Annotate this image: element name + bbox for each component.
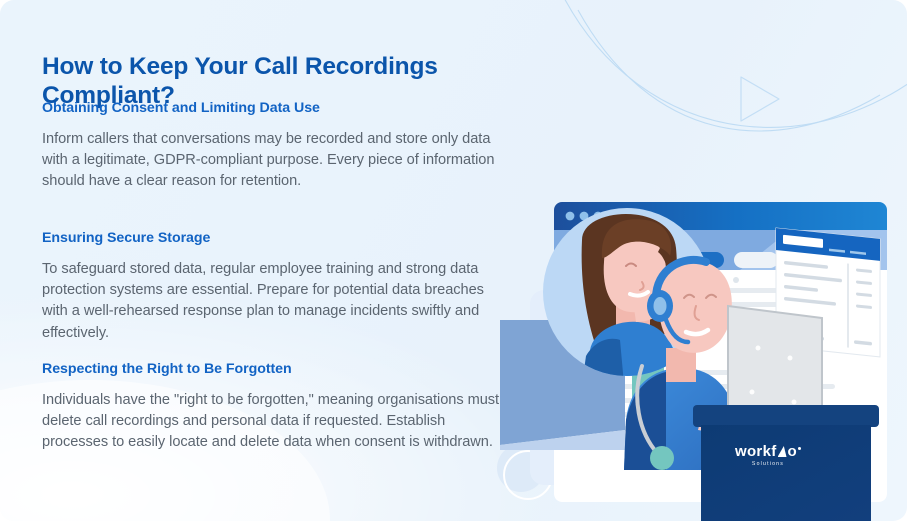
infographic-canvas: How to Keep Your Call Recordings Complia… [0, 0, 907, 521]
logo-dot-icon [798, 447, 801, 450]
logo-wordmark-tail: o [788, 443, 797, 460]
call-center-illustration [490, 170, 907, 521]
workflo-logo-text: workfo Solutions [726, 444, 810, 467]
section-heading: Ensuring Secure Storage [42, 230, 507, 247]
arc-lines-icon [560, 0, 907, 131]
section-consent: Obtaining Consent and Limiting Data Use … [42, 100, 507, 193]
play-outline-icon [741, 77, 779, 121]
section-forgotten: Respecting the Right to Be Forgotten Ind… [42, 361, 507, 454]
text-column: How to Keep Your Call Recordings Complia… [42, 0, 512, 521]
logo-tagline: Solutions [726, 461, 810, 467]
section-body: Individuals have the "right to be forgot… [42, 390, 507, 453]
section-body: To safeguard stored data, regular employ… [42, 259, 507, 344]
section-storage: Ensuring Secure Storage To safeguard sto… [42, 230, 507, 344]
section-heading: Respecting the Right to Be Forgotten [42, 361, 507, 378]
section-heading: Obtaining Consent and Limiting Data Use [42, 100, 507, 117]
section-body: Inform callers that conversations may be… [42, 129, 507, 192]
logo-wordmark-main: workf [735, 443, 777, 460]
logo-flag-icon [778, 446, 787, 457]
